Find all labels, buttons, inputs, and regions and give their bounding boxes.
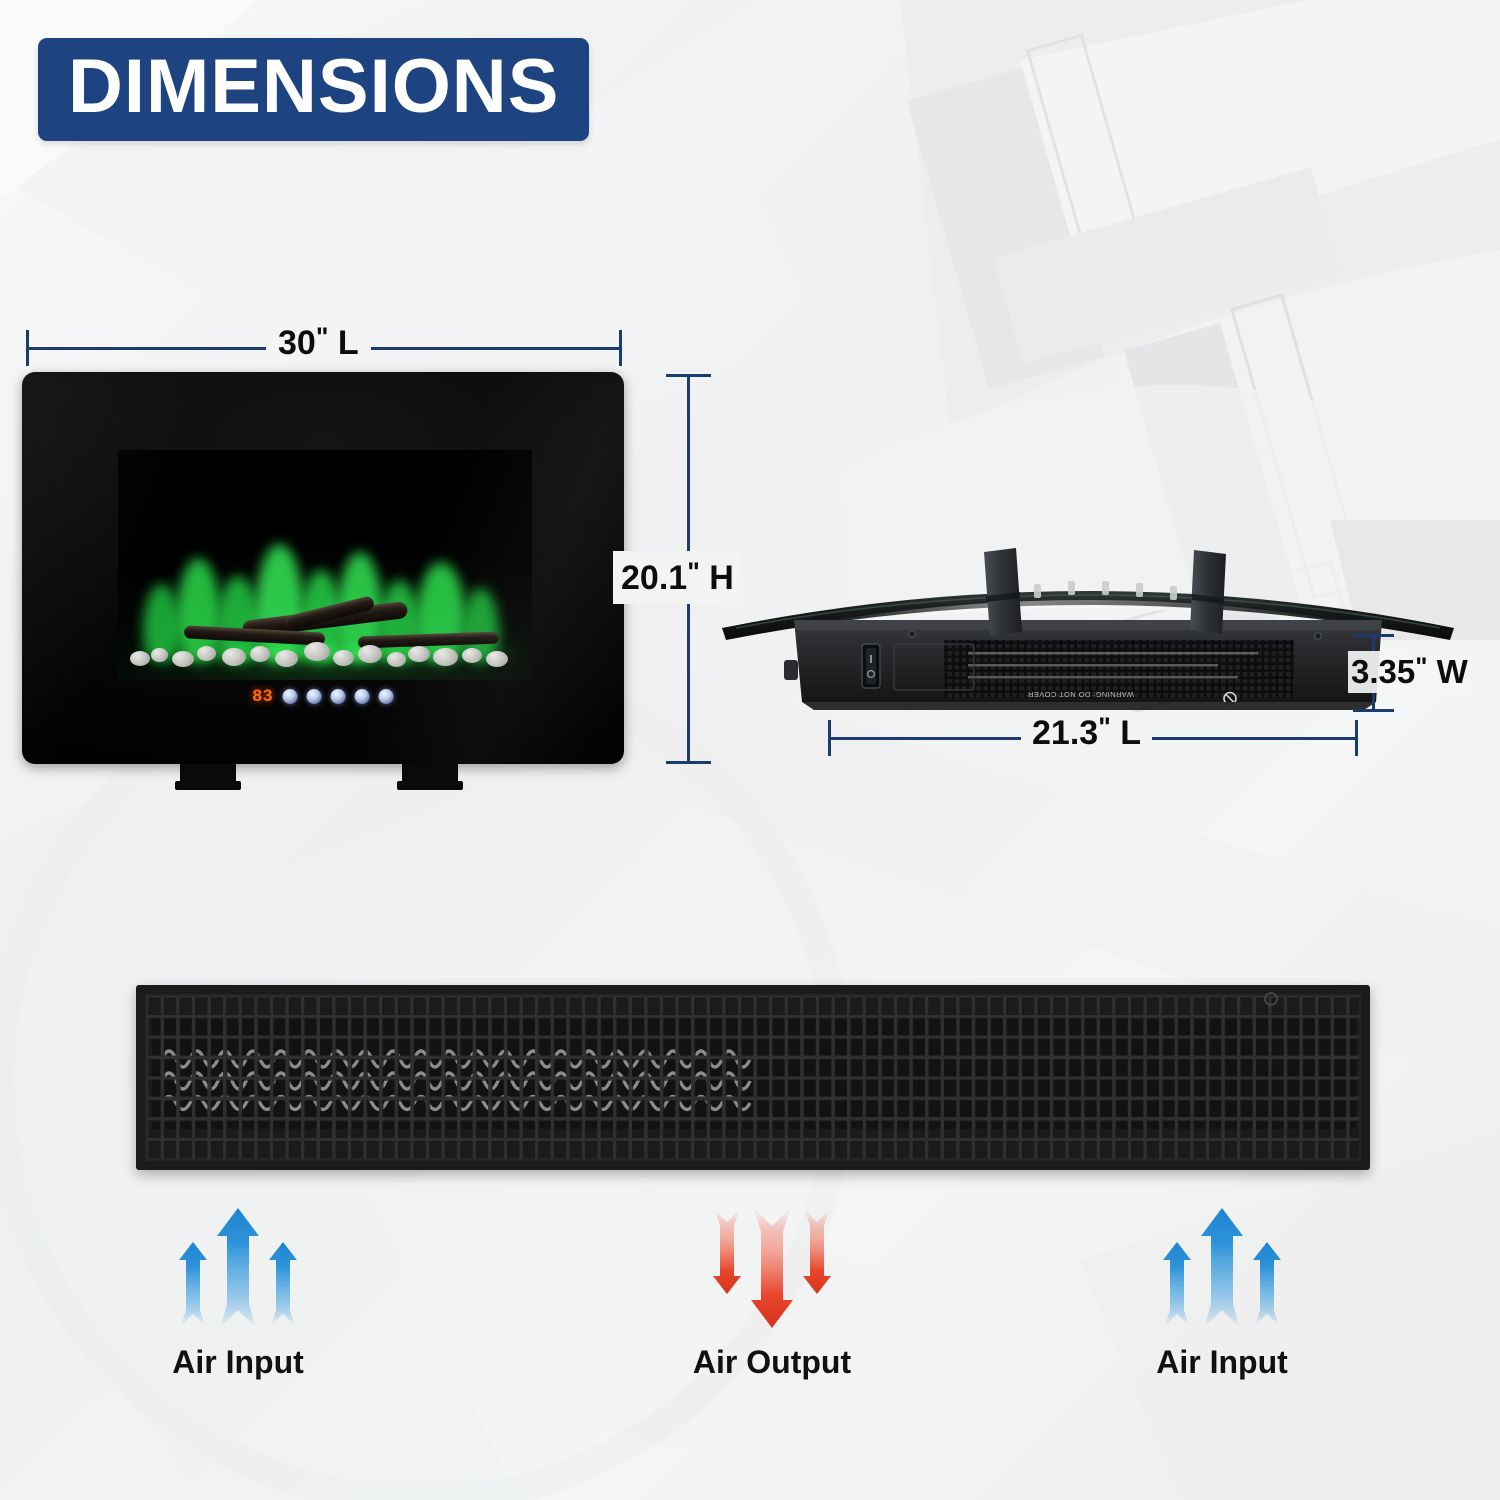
pebble [486,651,508,667]
pebble [197,646,216,661]
air-input-arrows-icon [1147,1198,1297,1338]
temperature-display: 83 [253,686,274,706]
air-input-left: Air Input [148,1198,328,1381]
dim-tick-right [619,330,622,366]
dim-tick-depth-top [1353,634,1394,637]
pebble [151,648,168,662]
timer-icon[interactable] [354,689,369,704]
control-panel[interactable]: 83 [253,686,394,706]
dim-tick-sl-right [1355,720,1358,756]
pebble [275,650,298,667]
air-output-label: Air Output [693,1344,851,1381]
dim-tick-left [26,330,29,366]
pebble [358,645,382,663]
air-output: Air Output [652,1198,892,1381]
page-title-banner: DIMENSIONS [38,38,589,141]
page-title: DIMENSIONS [68,47,559,127]
air-output-arrows-icon [697,1198,847,1338]
air-input-arrows-icon [163,1198,313,1338]
air-input-right: Air Input [1132,1198,1312,1381]
pebble [387,652,406,667]
mounting-foot-right [402,764,458,790]
power-cord-socket [784,660,798,680]
dim-tick-sl-left [828,720,831,756]
warning-label-text: WARNING: DO NOT COVER [1027,690,1134,699]
color-icon[interactable] [378,689,393,704]
fireplace-front-view: 83 [22,372,624,764]
power-switch [862,644,880,688]
power-icon[interactable] [282,689,297,704]
mounting-bracket-right [1190,550,1226,634]
mounting-foot-left [180,764,236,790]
screw [909,631,915,637]
fireplace-glass-front: 83 [22,372,624,764]
grille-screw-icon [1260,988,1282,1010]
pebble [462,648,482,663]
mounting-bracket-left [984,548,1022,636]
heater-grille-panel [136,985,1370,1170]
heat-icon[interactable] [330,689,345,704]
pebble [408,646,430,662]
dim-tick-bottom [666,761,711,764]
dim-label-side-length: 21.3" L [1021,712,1152,753]
flame-display-area [118,450,532,680]
screw [1315,633,1321,639]
flame-icon[interactable] [306,689,321,704]
grille-mesh [145,994,1361,1161]
air-input-left-label: Air Input [172,1344,304,1381]
fireplace-profile-view: WARNING: DO NOT COVER [716,524,1460,724]
pebble [172,651,194,667]
dim-label-front-width: 30" L [266,322,371,363]
pebble [433,648,458,666]
dim-label-depth: 3.35" W [1348,651,1471,693]
dim-tick-depth-bottom [1353,709,1394,712]
pebble [222,648,246,666]
vent-grille [944,640,1294,698]
dim-tick-top [666,374,711,377]
air-input-right-label: Air Input [1156,1344,1288,1381]
